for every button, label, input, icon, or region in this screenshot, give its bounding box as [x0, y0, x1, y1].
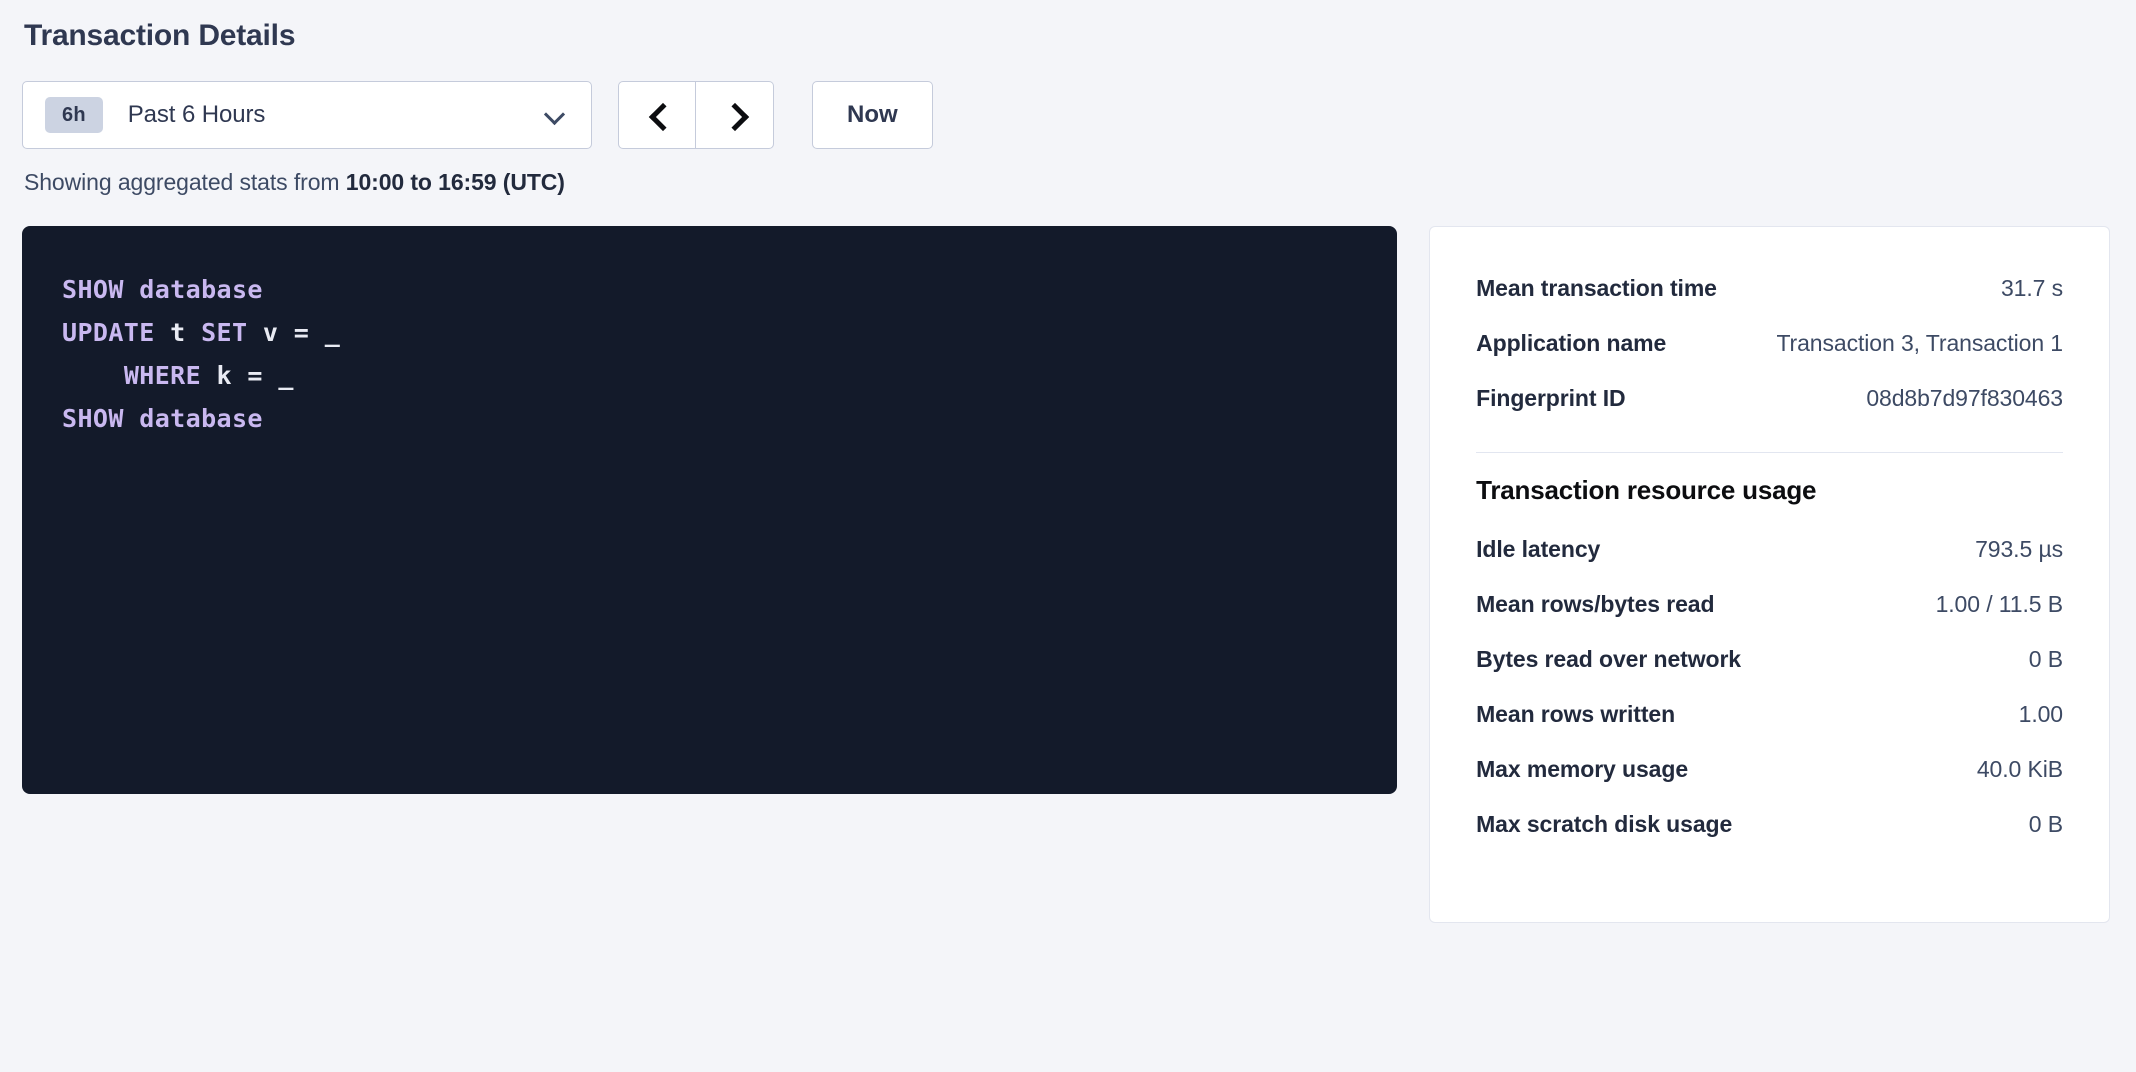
- sql-keyword: database: [139, 275, 263, 304]
- sql-identifier: [124, 275, 139, 304]
- sql-statement-card: SHOW database UPDATE t SET v = _ WHERE k…: [22, 226, 1397, 794]
- page-title: Transaction Details: [22, 18, 2110, 54]
- stat-row: Fingerprint ID08d8b7d97f830463: [1476, 371, 2063, 426]
- stat-value: 08d8b7d97f830463: [1866, 385, 2063, 412]
- stat-row: Mean rows/bytes read1.00 / 11.5 B: [1476, 577, 2063, 632]
- sql-identifier: t: [155, 318, 201, 347]
- now-button[interactable]: Now: [812, 81, 933, 149]
- summary-stats-list: Mean transaction time31.7 sApplication n…: [1476, 261, 2063, 426]
- sql-keyword: SHOW: [62, 404, 124, 433]
- transaction-details-page: Transaction Details 6h Past 6 Hours Now …: [0, 0, 2136, 1072]
- stat-row: Max scratch disk usage0 B: [1476, 797, 2063, 852]
- sql-keyword: database: [139, 404, 263, 433]
- stat-value: 0 B: [2029, 811, 2063, 838]
- stat-value: 1.00: [2019, 701, 2063, 728]
- sql-keyword: WHERE: [124, 361, 201, 390]
- stat-label: Mean rows/bytes read: [1476, 591, 1714, 618]
- stat-label: Mean rows written: [1476, 701, 1675, 728]
- stat-value: 0 B: [2029, 646, 2063, 673]
- stat-row: Max memory usage40.0 KiB: [1476, 742, 2063, 797]
- stat-label: Application name: [1476, 330, 1666, 357]
- chevron-right-icon: [725, 105, 745, 125]
- stat-label: Mean transaction time: [1476, 275, 1717, 302]
- time-range-badge: 6h: [45, 97, 103, 133]
- sql-statement-text: SHOW database UPDATE t SET v = _ WHERE k…: [62, 268, 1357, 440]
- chevron-down-icon: [545, 105, 565, 125]
- resource-stats-list: Idle latency793.5 µsMean rows/bytes read…: [1476, 522, 2063, 852]
- transaction-stats-card: Mean transaction time31.7 sApplication n…: [1429, 226, 2110, 923]
- time-nav-group: [618, 81, 774, 149]
- stat-value: 31.7 s: [2001, 275, 2063, 302]
- aggregate-note-prefix: Showing aggregated stats from: [24, 169, 346, 195]
- time-range-label: Past 6 Hours: [128, 101, 545, 129]
- stats-divider: [1476, 452, 2063, 453]
- stat-label: Max scratch disk usage: [1476, 811, 1732, 838]
- aggregate-note-range: 10:00 to 16:59 (UTC): [346, 169, 565, 195]
- sql-keyword: UPDATE: [62, 318, 155, 347]
- sql-identifier: k = _: [201, 361, 294, 390]
- main-content: SHOW database UPDATE t SET v = _ WHERE k…: [22, 226, 2110, 923]
- stat-row: Application nameTransaction 3, Transacti…: [1476, 316, 2063, 371]
- stat-value: 1.00 / 11.5 B: [1936, 591, 2063, 618]
- stat-row: Mean transaction time31.7 s: [1476, 261, 2063, 316]
- stat-value: 793.5 µs: [1975, 536, 2063, 563]
- sql-identifier: v = _: [247, 318, 340, 347]
- next-period-button[interactable]: [696, 81, 774, 149]
- stat-label: Fingerprint ID: [1476, 385, 1625, 412]
- stat-label: Bytes read over network: [1476, 646, 1741, 673]
- resource-usage-title: Transaction resource usage: [1476, 475, 2063, 506]
- sql-identifier: [124, 404, 139, 433]
- aggregate-note: Showing aggregated stats from 10:00 to 1…: [22, 169, 2110, 196]
- chevron-left-icon: [647, 105, 667, 125]
- stat-value: Transaction 3, Transaction 1: [1776, 330, 2063, 357]
- stat-label: Max memory usage: [1476, 756, 1688, 783]
- sql-keyword: SHOW: [62, 275, 124, 304]
- stat-row: Bytes read over network0 B: [1476, 632, 2063, 687]
- stat-row: Mean rows written1.00: [1476, 687, 2063, 742]
- sql-identifier: [62, 361, 124, 390]
- stat-value: 40.0 KiB: [1977, 756, 2063, 783]
- time-range-select[interactable]: 6h Past 6 Hours: [22, 81, 592, 149]
- previous-period-button[interactable]: [618, 81, 696, 149]
- stat-label: Idle latency: [1476, 536, 1600, 563]
- time-controls-row: 6h Past 6 Hours Now: [22, 81, 2110, 149]
- sql-keyword: SET: [201, 318, 247, 347]
- stat-row: Idle latency793.5 µs: [1476, 522, 2063, 577]
